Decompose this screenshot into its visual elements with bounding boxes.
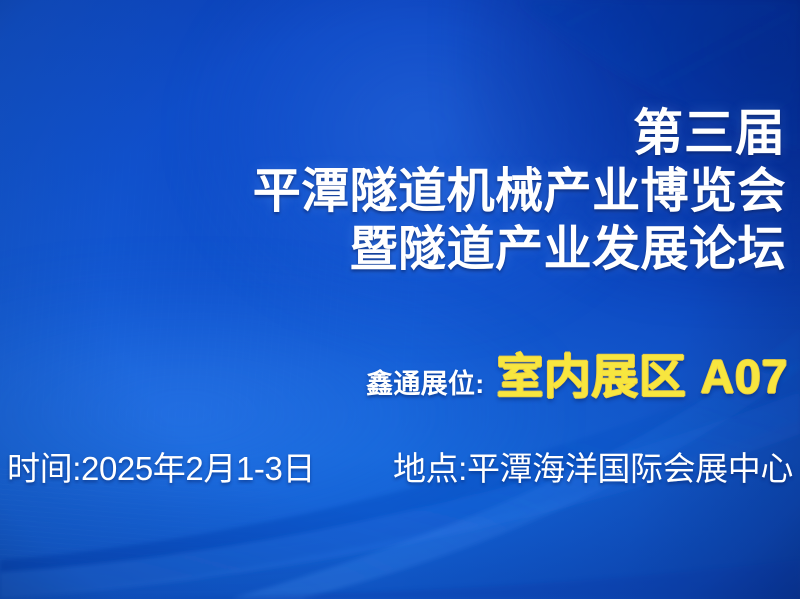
booth-label: 鑫通展位: (366, 362, 484, 401)
event-info-row: 时间:2025年2月1-3日 地点:平潭海洋国际会展中心 (7, 442, 793, 490)
poster-content: 第三届 平潭隧道机械产业博览会 暨隧道产业发展论坛 鑫通展位: 室内展区A07 … (0, 0, 800, 599)
booth-code: A07 (700, 350, 788, 403)
event-title-block: 第三届 平潭隧道机械产业博览会 暨隧道产业发展论坛 (253, 108, 786, 274)
exhibition-poster: 第三届 平潭隧道机械产业博览会 暨隧道产业发展论坛 鑫通展位: 室内展区A07 … (0, 0, 800, 599)
title-line-subtitle: 暨隧道产业发展论坛 (253, 226, 786, 274)
event-date: 时间:2025年2月1-3日 (7, 442, 315, 490)
title-line-edition: 第三届 (253, 108, 786, 158)
booth-value: 室内展区A07 (496, 338, 788, 407)
booth-row: 鑫通展位: 室内展区A07 (366, 338, 788, 407)
booth-area: 室内展区 (496, 350, 686, 403)
event-venue: 地点:平潭海洋国际会展中心 (393, 442, 793, 490)
title-line-main: 平潭隧道机械产业博览会 (253, 168, 786, 216)
